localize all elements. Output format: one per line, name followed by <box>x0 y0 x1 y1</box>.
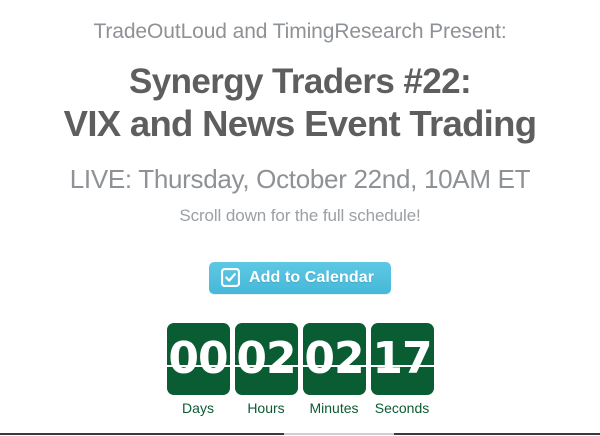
page-title-line-1: Synergy Traders #22: <box>0 61 600 103</box>
countdown-card-minutes: 02 <box>303 323 366 395</box>
flip-divider <box>167 365 230 367</box>
page-bottom-divider-light-segment <box>284 433 394 435</box>
calendar-checkbox-icon <box>221 268 240 287</box>
countdown-label-hours: Hours <box>235 401 298 415</box>
countdown-value-seconds: 17 <box>371 336 434 382</box>
presenter-line: TradeOutLoud and TimingResearch Present: <box>0 0 600 42</box>
add-to-calendar-button[interactable]: Add to Calendar <box>209 262 391 294</box>
countdown-value-hours: 02 <box>235 336 298 382</box>
countdown-unit-hours: 02 Hours <box>235 323 298 415</box>
countdown-value-minutes: 02 <box>303 336 366 382</box>
flip-divider <box>371 365 434 367</box>
webinar-landing-page: TradeOutLoud and TimingResearch Present:… <box>0 0 600 436</box>
flip-divider <box>235 365 298 367</box>
page-title-line-2: VIX and News Event Trading <box>0 103 600 145</box>
flip-divider <box>303 365 366 367</box>
event-datetime: LIVE: Thursday, October 22nd, 10AM ET <box>0 166 600 192</box>
countdown-label-days: Days <box>167 401 230 415</box>
countdown-unit-minutes: 02 Minutes <box>303 323 366 415</box>
countdown-card-hours: 02 <box>235 323 298 395</box>
scroll-hint: Scroll down for the full schedule! <box>0 207 600 224</box>
countdown-label-seconds: Seconds <box>371 401 434 415</box>
countdown-unit-days: 00 Days <box>167 323 230 415</box>
countdown-card-seconds: 17 <box>371 323 434 395</box>
countdown-card-days: 00 <box>167 323 230 395</box>
add-to-calendar-label: Add to Calendar <box>249 270 374 286</box>
countdown-unit-seconds: 17 Seconds <box>371 323 434 415</box>
countdown-value-days: 00 <box>167 336 230 382</box>
countdown-label-minutes: Minutes <box>303 401 366 415</box>
cta-row: Add to Calendar <box>0 262 600 294</box>
page-title: Synergy Traders #22: VIX and News Event … <box>0 61 600 145</box>
countdown-timer: 00 Days 02 Hours 02 Minutes 17 Sec <box>0 323 600 415</box>
